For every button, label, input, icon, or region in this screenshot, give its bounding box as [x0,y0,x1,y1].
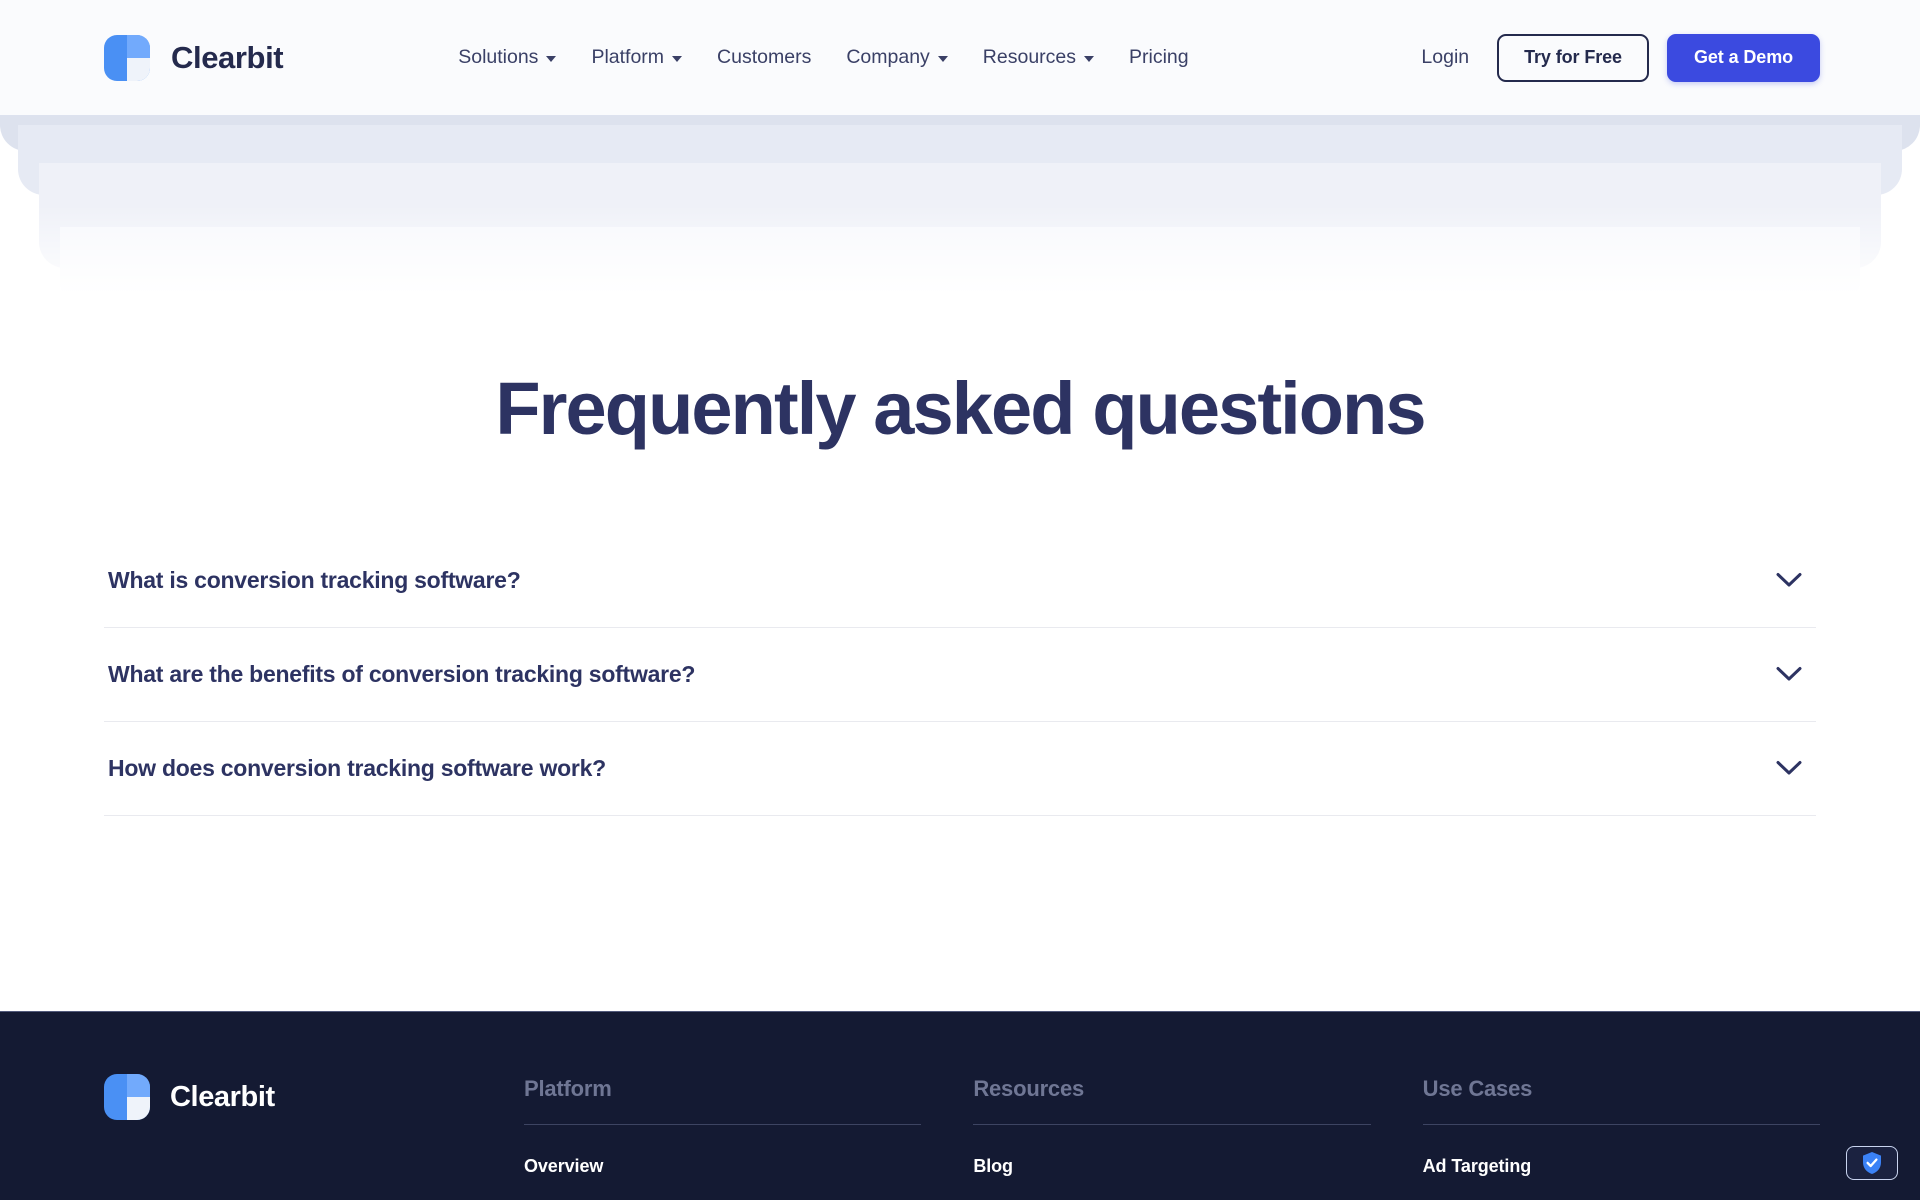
nav-item-label: Company [846,46,929,69]
footer-link-list: Blog [973,1125,1370,1180]
footer-column-title: Resources [973,1076,1370,1125]
footer-link-ad-targeting[interactable]: Ad Targeting [1423,1153,1820,1180]
footer-column-resources: Resources Blog [973,1076,1370,1180]
chevron-down-icon [1084,56,1094,62]
get-a-demo-button[interactable]: Get a Demo [1667,34,1820,82]
main-nav: Solutions Platform Customers Company Res… [458,40,1188,75]
footer-link-list: Overview [524,1125,921,1180]
footer-brand-logo-link[interactable]: Clearbit [104,1074,524,1120]
login-link[interactable]: Login [1411,40,1479,75]
footer-column-title: Use Cases [1423,1076,1820,1125]
brand-name: Clearbit [171,40,283,76]
trust-badge[interactable] [1846,1146,1898,1180]
nav-item-label: Pricing [1129,46,1189,69]
clearbit-logo-icon [104,35,150,81]
footer-column-use-cases: Use Cases Ad Targeting [1423,1076,1820,1180]
nav-item-platform[interactable]: Platform [591,40,682,75]
chevron-down-icon [938,56,948,62]
nav-item-label: Platform [591,46,664,69]
shield-check-icon [1861,1151,1883,1175]
chevron-down-icon[interactable] [1776,666,1802,682]
nav-item-customers[interactable]: Customers [717,40,811,75]
nav-item-pricing[interactable]: Pricing [1129,40,1189,75]
footer-column-title: Platform [524,1076,921,1125]
brand-logo-link[interactable]: Clearbit [104,35,283,81]
nav-item-solutions[interactable]: Solutions [458,40,556,75]
faq-section: Frequently asked questions What is conve… [0,315,1920,816]
page-title: Frequently asked questions [0,370,1920,448]
chevron-down-icon[interactable] [1776,572,1802,588]
faq-question: How does conversion tracking software wo… [108,755,606,782]
footer-column-platform: Platform Overview [524,1076,921,1180]
nav-item-label: Solutions [458,46,538,69]
try-for-free-button[interactable]: Try for Free [1497,34,1649,82]
chevron-down-icon[interactable] [1776,760,1802,776]
faq-accordion: What is conversion tracking software? Wh… [104,534,1816,816]
footer-brand-name: Clearbit [170,1081,275,1114]
site-header: Clearbit Solutions Platform Customers Co… [0,0,1920,115]
faq-item[interactable]: What is conversion tracking software? [104,534,1816,628]
nav-item-label: Customers [717,46,811,69]
footer-link-overview[interactable]: Overview [524,1153,921,1180]
faq-question: What is conversion tracking software? [108,567,521,594]
site-footer: Clearbit Platform Overview Resources Blo… [0,1011,1920,1200]
nav-item-label: Resources [983,46,1076,69]
chevron-down-icon [546,56,556,62]
nav-item-resources[interactable]: Resources [983,40,1094,75]
faq-question: What are the benefits of conversion trac… [108,661,695,688]
clearbit-logo-icon [104,1074,150,1120]
faq-item[interactable]: How does conversion tracking software wo… [104,722,1816,816]
header-actions: Login Try for Free Get a Demo [1411,34,1820,82]
nav-item-company[interactable]: Company [846,40,947,75]
page-root: Clearbit Solutions Platform Customers Co… [0,0,1920,1200]
chevron-down-icon [672,56,682,62]
footer-link-blog[interactable]: Blog [973,1153,1370,1180]
stacked-panel-decoration [0,115,1920,315]
faq-item[interactable]: What are the benefits of conversion trac… [104,628,1816,722]
footer-link-list: Ad Targeting [1423,1125,1820,1180]
footer-columns: Platform Overview Resources Blog Use Cas… [524,1074,1820,1180]
